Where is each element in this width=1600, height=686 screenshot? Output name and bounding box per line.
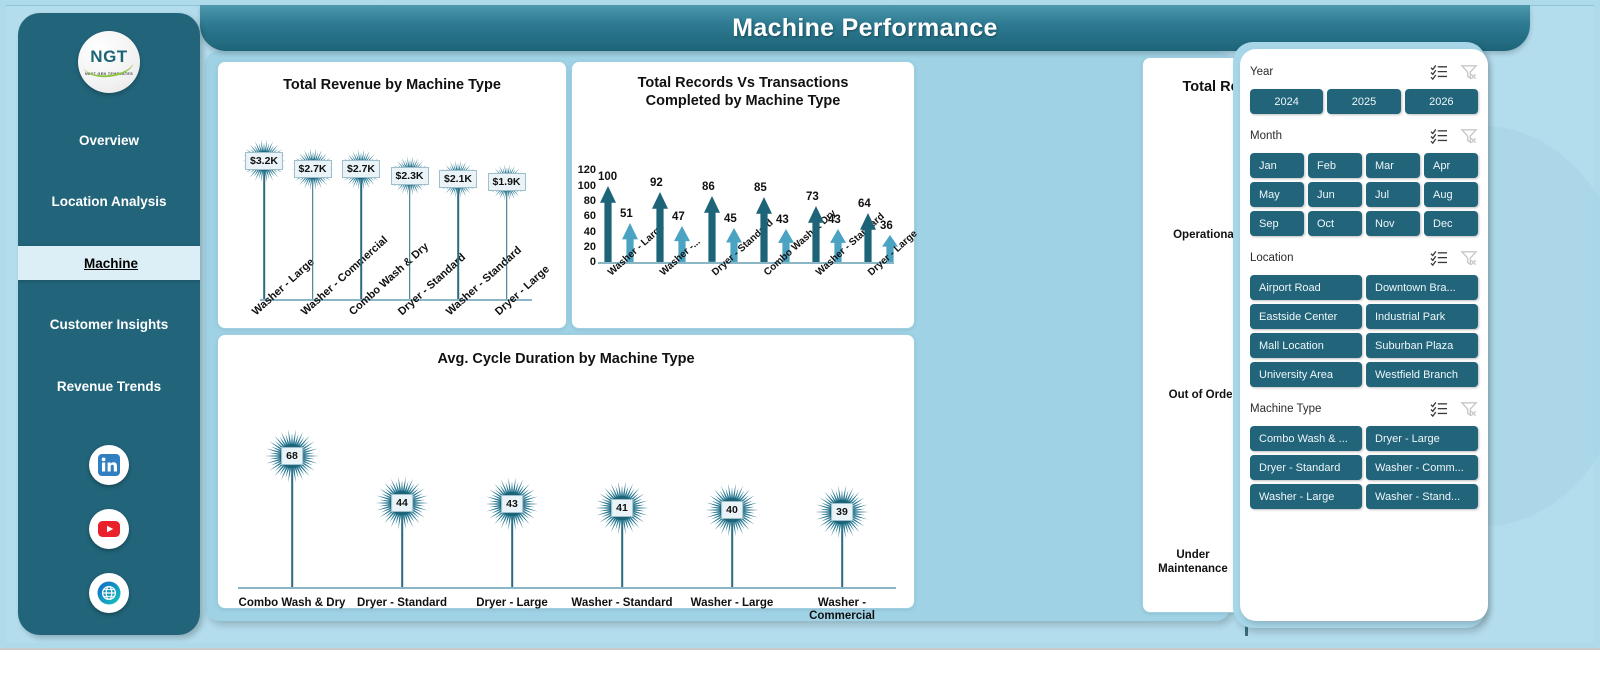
data-label: 39 bbox=[831, 503, 853, 521]
multi-select-icon[interactable] bbox=[1430, 64, 1448, 80]
arrow-bar bbox=[600, 186, 616, 268]
data-label: 47 bbox=[672, 211, 685, 223]
filter-option-list: JanFebMarAprMayJunJulAugSepOctNovDec bbox=[1250, 153, 1478, 236]
filter-option[interactable]: Suburban Plaza bbox=[1366, 333, 1478, 358]
filter-option[interactable]: 2026 bbox=[1405, 89, 1478, 114]
filter-group-month: Month JanFebMarAprMayJunJulAugSepOctNovD… bbox=[1240, 125, 1488, 236]
data-label: 85 bbox=[754, 182, 767, 194]
data-label: 86 bbox=[702, 181, 715, 193]
chart-title-cycle: Avg. Cycle Duration by Machine Type bbox=[218, 350, 914, 368]
card-records-vs-transactions: Total Records Vs Transactions Completed … bbox=[571, 61, 915, 329]
x-axis-label: Dryer - Large bbox=[457, 597, 567, 610]
filter-option[interactable]: Jul bbox=[1366, 182, 1420, 207]
data-label: 36 bbox=[880, 220, 893, 232]
clear-filter-icon[interactable] bbox=[1460, 250, 1478, 266]
data-label: 43 bbox=[776, 214, 789, 226]
y-axis-tick: 0 bbox=[572, 256, 596, 268]
y-axis-tick: 80 bbox=[572, 195, 596, 207]
filter-option[interactable]: Dryer - Large bbox=[1366, 426, 1478, 451]
chart-title-records-line2: Completed by Machine Type bbox=[572, 92, 914, 110]
ngt-logo: NGT NEXT GEN TEMPLATES bbox=[78, 31, 140, 93]
filter-panel: Year 202420252026 Month bbox=[1240, 49, 1488, 621]
filter-option[interactable]: Airport Road bbox=[1250, 275, 1362, 300]
data-label: 100 bbox=[598, 171, 617, 183]
filter-option[interactable]: Westfield Branch bbox=[1366, 362, 1478, 387]
filter-option[interactable]: May bbox=[1250, 182, 1304, 207]
chart-revenue-lollipop: $3.2KWasher - Large $2.7KWasher - Commer… bbox=[218, 94, 566, 360]
lollipop-point: 39 bbox=[802, 368, 882, 587]
data-label: $3.2K bbox=[245, 152, 283, 170]
filter-option[interactable]: University Area bbox=[1250, 362, 1362, 387]
filter-option[interactable]: 2024 bbox=[1250, 89, 1323, 114]
filter-option[interactable]: Industrial Park bbox=[1366, 304, 1478, 329]
lollipop-point: 41 bbox=[582, 368, 662, 587]
sidebar-item-overview[interactable]: Overview bbox=[18, 123, 200, 157]
filter-group-year: Year 202420252026 bbox=[1240, 61, 1488, 114]
filter-option[interactable]: Washer - Comm... bbox=[1366, 455, 1478, 480]
x-axis-label: Washer - Standard bbox=[567, 597, 677, 610]
y-axis-tick: 40 bbox=[572, 226, 596, 238]
filter-icon-group bbox=[1430, 250, 1478, 266]
filter-option[interactable]: Sep bbox=[1250, 211, 1304, 236]
multi-select-icon[interactable] bbox=[1430, 250, 1448, 266]
filter-icon-group bbox=[1430, 401, 1478, 417]
filter-title: Year bbox=[1250, 66, 1430, 78]
clear-filter-icon[interactable] bbox=[1460, 128, 1478, 144]
website-globe-icon[interactable] bbox=[89, 573, 129, 613]
data-label: $2.7K bbox=[293, 160, 331, 178]
filter-option[interactable]: Downtown Bra... bbox=[1366, 275, 1478, 300]
filter-option[interactable]: Jan bbox=[1250, 153, 1304, 178]
dashboard-canvas: Machine Performance NGT NEXT GEN TEMPLAT… bbox=[0, 0, 1600, 686]
sidebar-item-customer-insights[interactable]: Customer Insights bbox=[18, 307, 200, 341]
sidebar-item-label: Machine bbox=[84, 256, 138, 271]
filter-option[interactable]: Dec bbox=[1424, 211, 1478, 236]
filter-option-list: Airport RoadDowntown Bra...Eastside Cent… bbox=[1250, 275, 1478, 387]
clear-filter-icon[interactable] bbox=[1460, 64, 1478, 80]
data-label: 51 bbox=[620, 208, 633, 220]
lollipop-point: 40 bbox=[692, 368, 772, 587]
filter-option[interactable]: Mar bbox=[1366, 153, 1420, 178]
x-axis bbox=[260, 299, 532, 301]
filter-title: Machine Type bbox=[1250, 403, 1430, 415]
x-axis-label: Washer - Large bbox=[677, 597, 787, 610]
sidebar-item-revenue-trends[interactable]: Revenue Trends bbox=[18, 369, 200, 403]
sidebar-item-label: Revenue Trends bbox=[57, 379, 161, 394]
filter-option[interactable]: Washer - Large bbox=[1250, 484, 1362, 509]
filter-option[interactable]: Eastside Center bbox=[1250, 304, 1362, 329]
data-label: $1.9K bbox=[487, 173, 525, 191]
data-label: $2.1K bbox=[439, 170, 477, 188]
arrow-bar bbox=[704, 196, 720, 267]
data-label: 73 bbox=[806, 191, 819, 203]
filter-group-machine-type: Machine Type Combo Wash & ...Dryer - Lar… bbox=[1240, 398, 1488, 509]
arrow-bar bbox=[808, 206, 824, 267]
y-axis-tick: 120 bbox=[572, 164, 596, 176]
status-category-label: Out of Order bbox=[1149, 389, 1237, 403]
y-axis-tick: 100 bbox=[572, 180, 596, 192]
multi-select-icon[interactable] bbox=[1430, 128, 1448, 144]
sidebar-item-machine[interactable]: Machine bbox=[18, 246, 200, 280]
status-category-label: Operational bbox=[1149, 229, 1237, 243]
x-axis-label: Washer - Commercial bbox=[787, 597, 897, 623]
data-label: 92 bbox=[650, 177, 663, 189]
x-axis bbox=[238, 587, 896, 589]
chart-title-records-line1: Total Records Vs Transactions bbox=[572, 74, 914, 92]
filter-option-list: 202420252026 bbox=[1250, 89, 1478, 114]
filter-icon-group bbox=[1430, 64, 1478, 80]
filter-option[interactable]: Combo Wash & ... bbox=[1250, 426, 1362, 451]
filter-header: Location bbox=[1250, 247, 1478, 269]
sidebar-item-label: Customer Insights bbox=[50, 317, 169, 332]
data-label: 44 bbox=[391, 494, 413, 512]
arrow-bar bbox=[652, 192, 668, 268]
filter-header: Month bbox=[1250, 125, 1478, 147]
linkedin-icon[interactable] bbox=[89, 445, 129, 485]
filter-option[interactable]: Jun bbox=[1308, 182, 1362, 207]
sidebar-item-label: Overview bbox=[79, 133, 139, 148]
chart-title-records: Total Records Vs Transactions Completed … bbox=[572, 74, 914, 110]
y-axis-tick: 60 bbox=[572, 210, 596, 222]
sidebar: NGT NEXT GEN TEMPLATES Overview Location… bbox=[18, 13, 200, 635]
chart-title-revenue: Total Revenue by Machine Type bbox=[218, 76, 566, 94]
data-label: $2.7K bbox=[342, 160, 380, 178]
bottom-strip bbox=[0, 648, 1600, 686]
sidebar-item-label: Location Analysis bbox=[51, 194, 166, 209]
data-label: 45 bbox=[724, 213, 737, 225]
filter-option[interactable]: Aug bbox=[1424, 182, 1478, 207]
filter-header: Year bbox=[1250, 61, 1478, 83]
lollipop-point: 43 bbox=[472, 368, 552, 587]
x-axis-label: Combo Wash & Dry bbox=[237, 597, 347, 610]
content-area: Total Revenue by Machine Type $3.2KWashe… bbox=[205, 51, 1230, 621]
x-axis-label: Dryer - Standard bbox=[347, 597, 457, 610]
filter-option[interactable]: Dryer - Standard bbox=[1250, 455, 1362, 480]
card-total-revenue: Total Revenue by Machine Type $3.2KWashe… bbox=[217, 61, 567, 329]
filter-option[interactable]: Mall Location bbox=[1250, 333, 1362, 358]
filter-option[interactable]: Washer - Stand... bbox=[1366, 484, 1478, 509]
clear-filter-icon[interactable] bbox=[1460, 401, 1478, 417]
filter-option-list: Combo Wash & ...Dryer - LargeDryer - Sta… bbox=[1250, 426, 1478, 509]
arrow-bar bbox=[860, 213, 876, 267]
filter-icon-group bbox=[1430, 128, 1478, 144]
sidebar-item-location-analysis[interactable]: Location Analysis bbox=[18, 184, 200, 218]
data-label: 43 bbox=[828, 214, 841, 226]
arrow-bar bbox=[756, 197, 772, 267]
x-axis bbox=[598, 262, 894, 264]
data-label: 41 bbox=[611, 499, 633, 517]
lollipop-point: 68 bbox=[252, 368, 332, 587]
status-category-label: UnderMaintenance bbox=[1149, 549, 1237, 577]
filter-header: Machine Type bbox=[1250, 398, 1478, 420]
data-label: 40 bbox=[721, 501, 743, 519]
data-label: 68 bbox=[281, 447, 303, 465]
filter-option[interactable]: 2025 bbox=[1327, 89, 1400, 114]
multi-select-icon[interactable] bbox=[1430, 401, 1448, 417]
filter-option[interactable]: Oct bbox=[1308, 211, 1362, 236]
filter-group-location: Location Airport RoadDowntown Bra...East… bbox=[1240, 247, 1488, 387]
chart-cycle-lollipop: 68Combo Wash & Dry 44Dryer - Standard 43… bbox=[218, 368, 914, 641]
youtube-icon[interactable] bbox=[89, 509, 129, 549]
filter-title: Month bbox=[1250, 130, 1430, 142]
lollipop-point: $1.9K bbox=[467, 94, 547, 299]
card-avg-cycle-duration: Avg. Cycle Duration by Machine Type 68Co… bbox=[217, 334, 915, 609]
filter-title: Location bbox=[1250, 252, 1430, 264]
data-label: 43 bbox=[501, 495, 523, 513]
filter-option[interactable]: Feb bbox=[1308, 153, 1362, 178]
y-axis-tick: 20 bbox=[572, 241, 596, 253]
lollipop-point: 44 bbox=[362, 368, 442, 587]
data-label: 64 bbox=[858, 198, 871, 210]
data-label: $2.3K bbox=[390, 167, 428, 185]
filter-option[interactable]: Nov bbox=[1366, 211, 1420, 236]
filter-option[interactable]: Apr bbox=[1424, 153, 1478, 178]
